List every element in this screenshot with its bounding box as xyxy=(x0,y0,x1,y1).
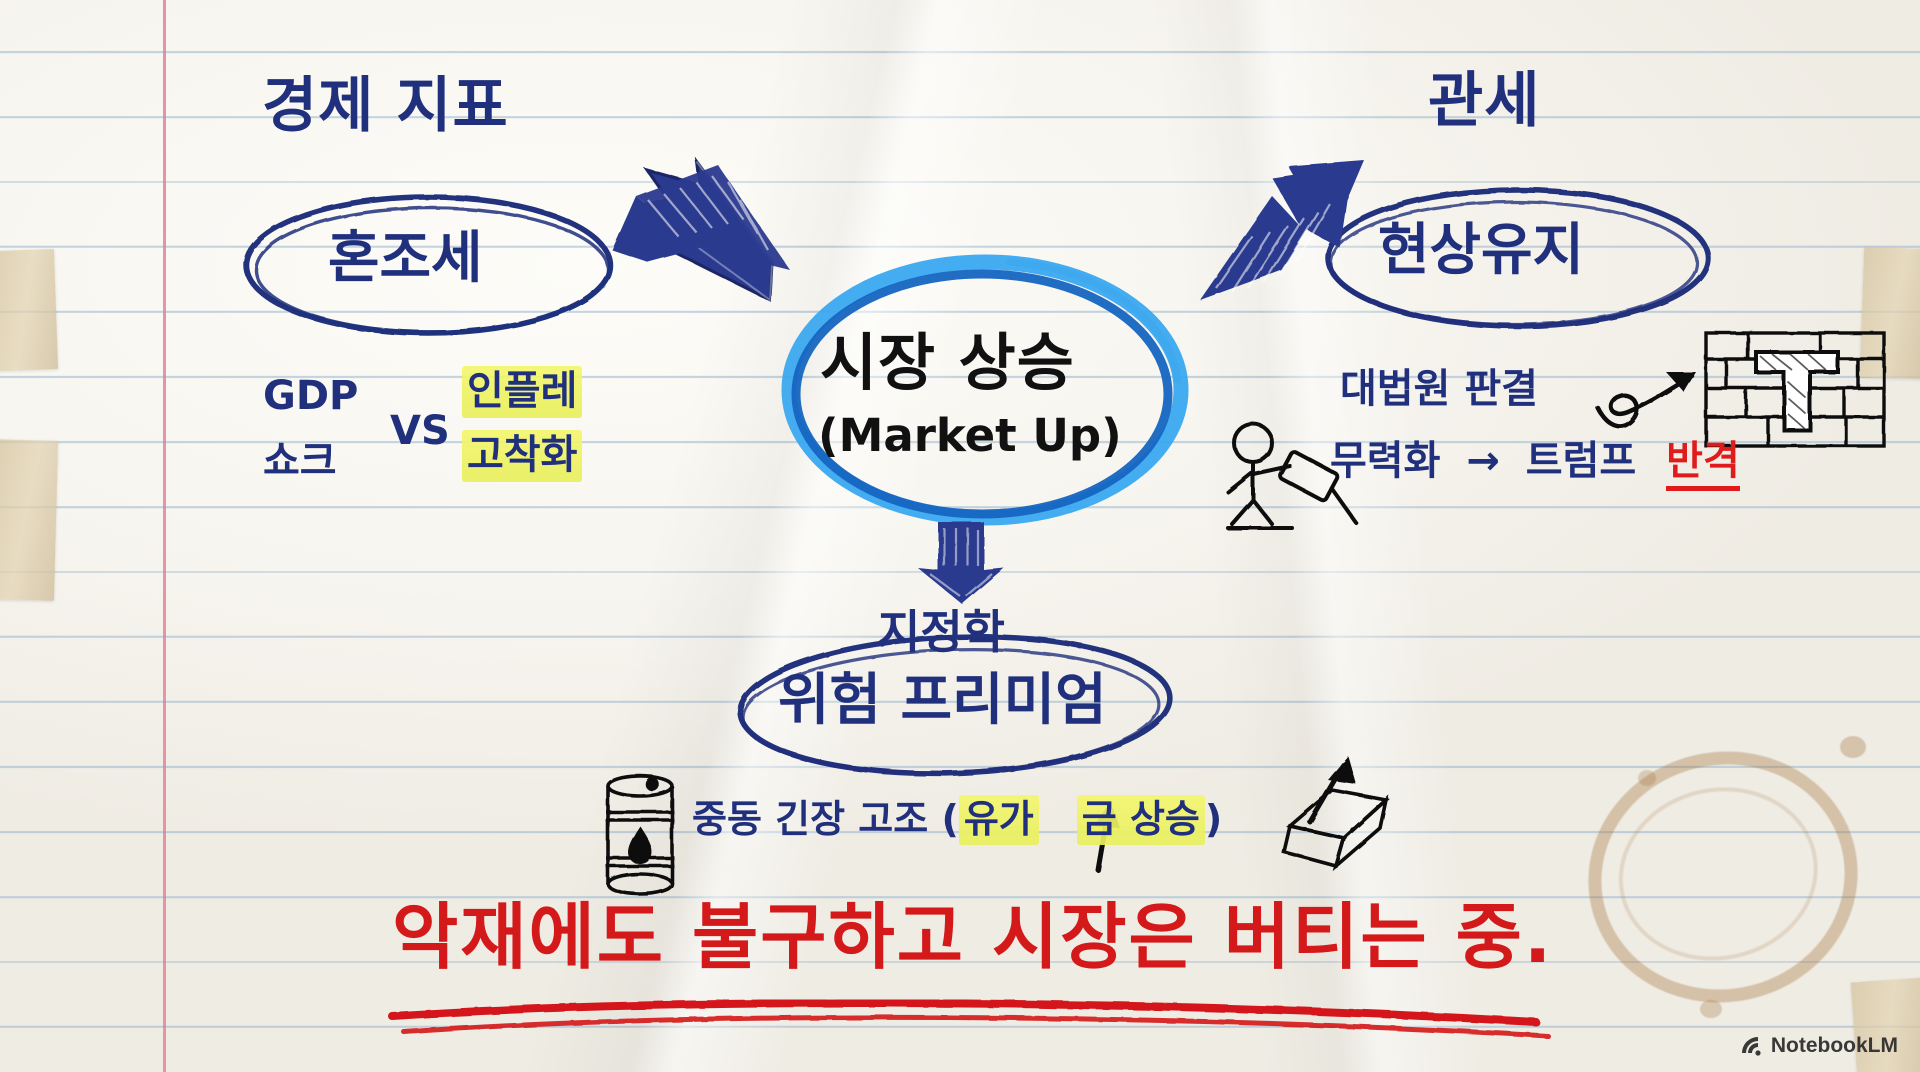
note-supreme-court-ruling: 대법원 판결 xyxy=(1340,368,1538,410)
note-shock: 쇼크 xyxy=(263,440,337,482)
branch-heading-tariff: 관세 xyxy=(1428,70,1540,133)
note-close-paren: ) xyxy=(1205,797,1222,841)
coffee-stain-drop-2 xyxy=(1638,770,1656,786)
coffee-stain-drop-1 xyxy=(1840,736,1866,758)
note-inflation-text: 인플레 xyxy=(462,366,582,418)
node-label-status-quo: 현상유지 xyxy=(1378,222,1584,281)
notebooklm-logo-icon xyxy=(1739,1034,1763,1058)
note-geopolitics-line: 중동 긴장 고조 (유가금 상승) xyxy=(692,800,1222,840)
notebooklm-watermark: NotebookLM xyxy=(1739,1034,1898,1058)
coffee-stain-drop-3 xyxy=(1700,1000,1722,1018)
branch-heading-economy: 경제 지표 xyxy=(262,75,509,138)
center-node-title: 시장 상승 xyxy=(820,330,1075,395)
center-node-subtitle: (Market Up) xyxy=(818,412,1122,459)
note-nullify: 무력화 xyxy=(1330,438,1440,484)
note-gold-rise: 금 상승 xyxy=(1077,795,1205,845)
note-middle-east: 중동 긴장 고조 ( xyxy=(692,797,959,841)
conclusion-text: 악재에도 불구하고 시장은 버티는 중. xyxy=(392,900,1553,976)
node-label-risk-premium: 위험 프리미엄 xyxy=(778,672,1107,731)
note-gdp: GDP xyxy=(263,375,358,417)
tape-strip-right-top xyxy=(1860,247,1920,379)
note-arrow: → xyxy=(1454,438,1512,484)
branch-heading-geopolitics: 지정학 xyxy=(878,608,1005,656)
note-inflation: 인플레 xyxy=(462,370,582,412)
note-trump: 트럼프 xyxy=(1526,438,1636,484)
notebook-page: 경제 지표 혼조세 GDP 쇼크 VS 인플레 고착화 관세 현상유지 대법원 … xyxy=(0,0,1920,1072)
note-tariff-sequence: 무력화 → 트럼프 반격 xyxy=(1330,440,1740,482)
note-entrenched: 고착화 xyxy=(462,434,582,476)
note-oil-price: 유가 xyxy=(959,795,1039,845)
note-vs: VS xyxy=(390,410,450,452)
notebooklm-label: NotebookLM xyxy=(1771,1034,1898,1058)
node-label-honjose: 혼조세 xyxy=(328,230,483,289)
margin-line xyxy=(163,0,166,1072)
tape-strip-left-top xyxy=(0,249,58,371)
note-entrenched-text: 고착화 xyxy=(462,430,582,482)
note-counterattack: 반격 xyxy=(1666,438,1740,491)
tape-strip-left-bottom xyxy=(0,439,58,601)
